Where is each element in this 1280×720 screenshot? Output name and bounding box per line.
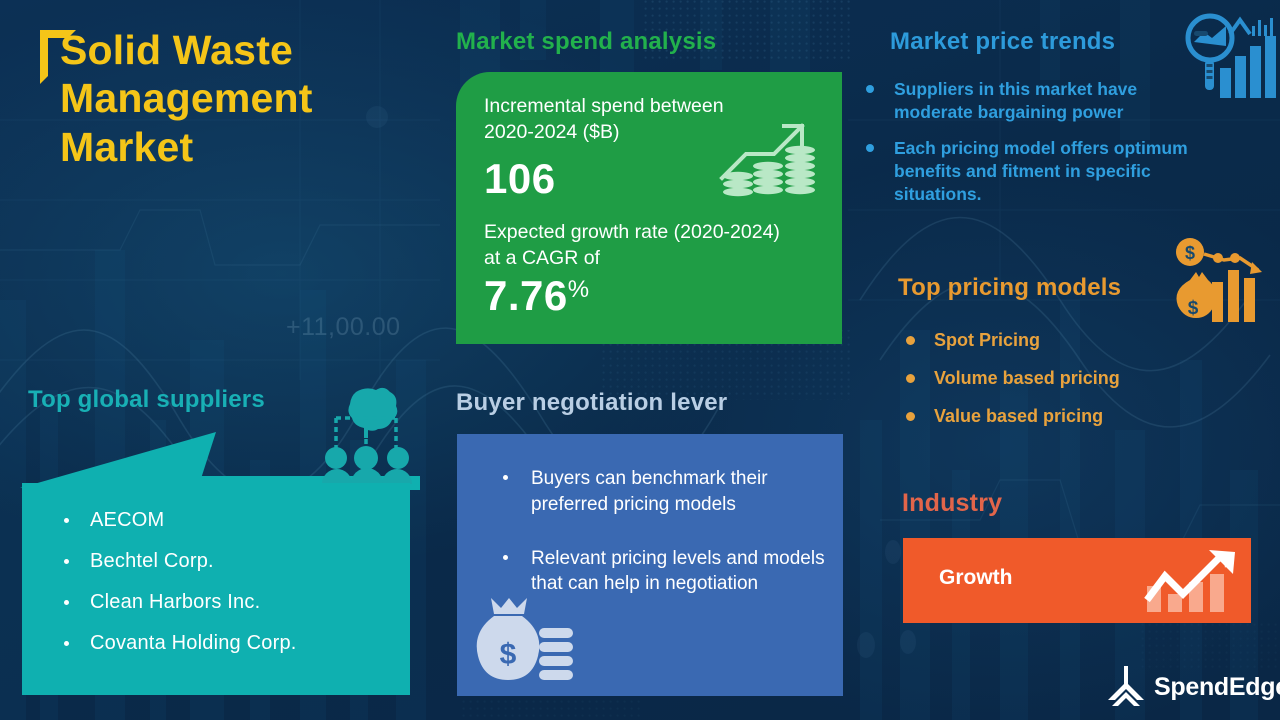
list-item: Relevant pricing levels and models that … <box>457 546 825 598</box>
svg-text:$: $ <box>500 638 517 671</box>
list-item: Spot Pricing <box>898 330 1198 351</box>
cagr-value-block: 7.76 % <box>484 272 589 320</box>
top-global-suppliers-box: AECOM Bechtel Corp. Clean Harbors Inc. C… <box>22 483 410 695</box>
bullet-icon <box>906 336 915 345</box>
magnifier-bar-chart-icon <box>1180 12 1276 104</box>
industry-growth-badge: Growth <box>903 538 1251 623</box>
list-item: Suppliers in this market have moderate b… <box>864 78 1194 125</box>
page-title-line-3: Market <box>60 124 193 170</box>
page-title-line-1: Solid Waste <box>60 27 293 73</box>
bullet-icon <box>866 85 874 93</box>
top-pricing-models-list: Spot Pricing Volume based pricing Value … <box>898 330 1198 444</box>
bullet-icon <box>866 144 874 152</box>
market-spend-heading: Market spend analysis <box>456 28 716 56</box>
list-item: AECOM <box>42 509 410 532</box>
svg-text:$: $ <box>1185 243 1195 263</box>
bullet-icon <box>503 555 508 560</box>
svg-text:$: $ <box>1188 298 1199 319</box>
list-item: Buyers can benchmark their preferred pri… <box>457 466 825 518</box>
bullet-icon <box>503 475 508 480</box>
list-item-label: Each pricing model offers optimum benefi… <box>894 138 1188 205</box>
cagr-value: 7.76 <box>484 272 568 320</box>
top-global-suppliers-list: AECOM Bechtel Corp. Clean Harbors Inc. C… <box>22 483 410 655</box>
top-pricing-models-heading: Top pricing models <box>898 274 1121 302</box>
list-item-label: Volume based pricing <box>934 368 1120 388</box>
money-bag-coins-icon: $ <box>467 592 577 688</box>
list-item: Covanta Holding Corp. <box>42 632 410 655</box>
background-circle-decoration <box>900 630 916 654</box>
growth-arrow-bars-icon <box>1139 546 1239 616</box>
buyer-negotiation-box: $ Buyers can benchmark their preferred p… <box>457 434 843 696</box>
cagr-percent-symbol: % <box>568 276 589 304</box>
spendedge-logo-text: SpendEdge <box>1154 673 1280 702</box>
list-item-label: Covanta Holding Corp. <box>90 632 297 654</box>
page-title: Solid Waste Management Market <box>38 26 438 171</box>
list-item-label: Buyers can benchmark their preferred pri… <box>531 468 768 515</box>
growth-rate-label: Expected growth rate (2020-2024) at a CA… <box>484 220 784 271</box>
top-global-suppliers-heading: Top global suppliers <box>28 386 265 414</box>
industry-heading: Industry <box>902 489 1002 518</box>
bullet-icon <box>64 518 69 523</box>
list-item-label: Value based pricing <box>934 406 1103 426</box>
page-title-line-2: Management <box>60 75 313 121</box>
market-spend-card: Incremental spend between 2020-2024 ($B)… <box>456 72 842 344</box>
spendedge-chevron-logo-icon <box>1106 666 1146 708</box>
list-item: Value based pricing <box>898 406 1198 427</box>
background-ticker-number: +11,00.00 <box>286 313 401 342</box>
list-item-label: AECOM <box>90 509 164 531</box>
page-title-block: Solid Waste Management Market <box>38 26 438 171</box>
list-item-label: Clean Harbors Inc. <box>90 591 260 613</box>
buyer-negotiation-heading: Buyer negotiation lever <box>456 389 727 417</box>
background-circle-decoration <box>857 632 875 658</box>
list-item: Bechtel Corp. <box>42 550 410 573</box>
bullet-icon <box>64 559 69 564</box>
globe-network-icon <box>320 386 416 484</box>
coin-stacks-growth-icon <box>716 110 820 206</box>
bullet-icon <box>906 374 915 383</box>
bullet-icon <box>906 412 915 421</box>
background-circle-decoration <box>885 540 901 564</box>
infographic-slide: +11,00.00 Solid Waste Management Market … <box>0 0 1280 720</box>
market-price-trends-list: Suppliers in this market have moderate b… <box>864 78 1194 218</box>
money-bag-declining-chart-icon: $ $ <box>1172 236 1272 324</box>
market-price-trends-heading: Market price trends <box>890 28 1115 56</box>
bullet-icon <box>64 641 69 646</box>
growth-badge-label: Growth <box>939 566 1013 590</box>
list-item-label: Spot Pricing <box>934 330 1040 350</box>
list-item-label: Bechtel Corp. <box>90 550 214 572</box>
list-item: Each pricing model offers optimum benefi… <box>864 137 1194 207</box>
list-item: Volume based pricing <box>898 368 1198 389</box>
buyer-negotiation-list: Buyers can benchmark their preferred pri… <box>457 434 843 597</box>
list-item: Clean Harbors Inc. <box>42 591 410 614</box>
bullet-icon <box>64 600 69 605</box>
spendedge-logo: SpendEdge ™ <box>1106 666 1280 708</box>
list-item-label: Suppliers in this market have moderate b… <box>894 79 1137 122</box>
list-item-label: Relevant pricing levels and models that … <box>531 548 825 595</box>
incremental-spend-value: 106 <box>484 155 556 203</box>
